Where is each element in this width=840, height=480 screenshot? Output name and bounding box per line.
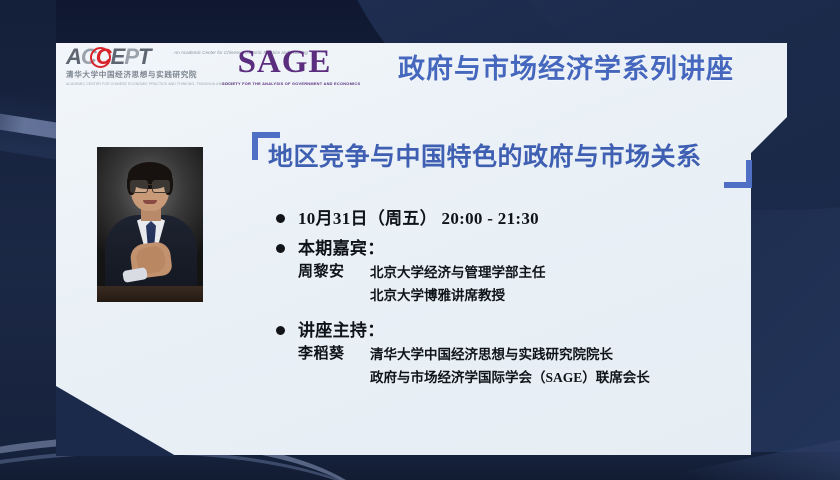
datetime-label: 10月31日（周五） 20:00 - 21:30: [298, 206, 539, 231]
background-left-column: [0, 0, 56, 480]
guest-label: 本期嘉宾：: [298, 236, 385, 261]
guest-title-2: 北京大学博雅讲席教授: [370, 284, 546, 307]
guest-person: 周黎安 北京大学经济与管理学部主任 北京大学博雅讲席教授: [298, 261, 746, 307]
accept-chinese-name: 清华大学中国经济思想与实践研究院: [66, 69, 196, 80]
sage-tagline: SOCIETY FOR THE ANALYSIS OF GOVERNMENT A…: [222, 81, 347, 86]
host-title-2: 政府与市场经济学国际学会（SAGE）联席会长: [370, 366, 650, 389]
detail-row-guest: 本期嘉宾：: [276, 236, 746, 261]
host-name: 李稻葵: [298, 343, 370, 366]
poster-slide: ACCEPT 清华大学中国经济思想与实践研究院 ACADEMIC CENTER …: [0, 0, 840, 480]
bullet-icon: [276, 326, 285, 335]
bracket-bottom-right-icon: [724, 160, 752, 188]
guest-title-1: 北京大学经济与管理学部主任: [370, 261, 546, 284]
sage-logo: SAGE SOCIETY FOR THE ANALYSIS OF GOVERNM…: [222, 46, 347, 86]
sage-wordmark: SAGE: [222, 46, 347, 79]
photo-glasses-bridge: [146, 184, 154, 185]
accept-ring-icon: [90, 47, 111, 68]
photo-glasses-icon: [130, 180, 170, 192]
details-list: 10月31日（周五） 20:00 - 21:30 本期嘉宾： 周黎安 北京大学经…: [276, 206, 746, 389]
bullet-icon: [276, 244, 285, 253]
detail-row-host: 讲座主持：: [276, 318, 746, 343]
host-title-1: 清华大学中国经济思想与实践研究院院长: [370, 343, 650, 366]
host-person: 李稻葵 清华大学中国经济思想与实践研究院院长 政府与市场经济学国际学会（SAGE…: [298, 343, 746, 389]
guest-titles: 北京大学经济与管理学部主任 北京大学博雅讲席教授: [370, 261, 546, 307]
photo-desk: [97, 286, 203, 302]
accept-english-name: ACADEMIC CENTER FOR CHINESE ECONOMIC PRA…: [66, 82, 196, 86]
host-label: 讲座主持：: [298, 318, 385, 343]
lecture-title: 地区竞争与中国特色的政府与市场关系: [268, 140, 702, 176]
lecture-title-block: 地区竞争与中国特色的政府与市场关系: [252, 132, 752, 188]
photo-mouth: [143, 200, 157, 204]
host-titles: 清华大学中国经济思想与实践研究院院长 政府与市场经济学国际学会（SAGE）联席会…: [370, 343, 650, 389]
accept-logo: ACCEPT 清华大学中国经济思想与实践研究院 ACADEMIC CENTER …: [66, 46, 196, 86]
detail-row-datetime: 10月31日（周五） 20:00 - 21:30: [276, 206, 746, 231]
bullet-icon: [276, 214, 285, 223]
speaker-photo: [97, 147, 203, 302]
guest-name: 周黎安: [298, 261, 370, 284]
series-title: 政府与市场经济学系列讲座: [398, 52, 734, 86]
